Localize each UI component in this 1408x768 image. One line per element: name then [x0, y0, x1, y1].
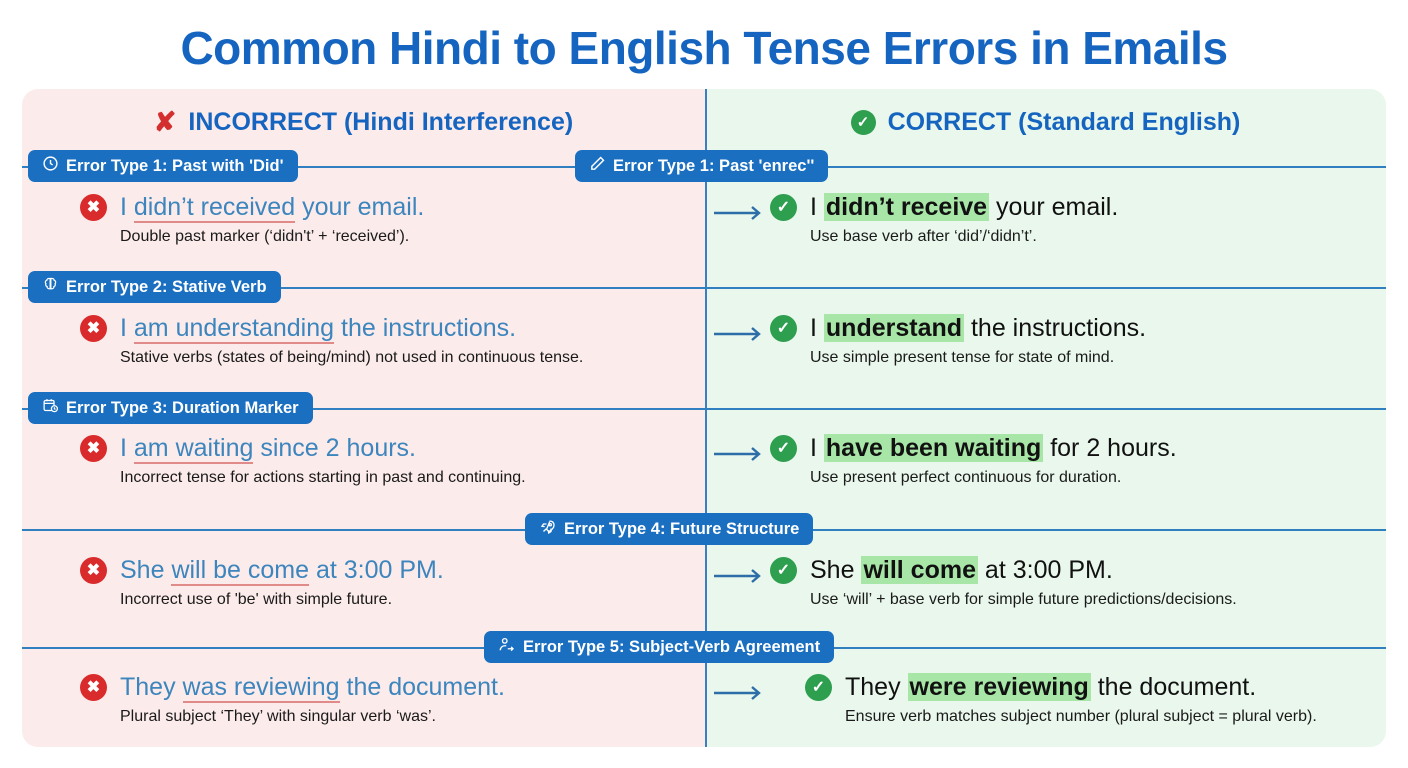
incorrect-column-label: INCORRECT (Hindi Interference) — [188, 108, 573, 137]
incorrect-note: Stative verbs (states of being/mind) not… — [80, 349, 705, 367]
badge-label: Error Type 5: Subject-Verb Agreement — [523, 638, 820, 657]
calendar-clock-icon — [42, 397, 59, 419]
success-icon: ✓ — [770, 435, 797, 462]
correct-sentence: I have been waiting for 2 hours. — [810, 434, 1177, 463]
badge-label: Error Type 4: Future Structure — [564, 520, 799, 539]
badge-error-type-4[interactable]: Error Type 4: Future Structure — [525, 513, 813, 545]
incorrect-note: Double past marker (‘didn't’ + ‘received… — [80, 228, 705, 246]
incorrect-cell: ✖ I didn’t received your email. Double p… — [22, 193, 705, 246]
success-icon: ✓ — [805, 674, 832, 701]
success-icon: ✓ — [770, 194, 797, 221]
comparison-row: ✖ She will be come at 3:00 PM. Incorrect… — [22, 556, 1386, 626]
correct-cell: ✓ I understand the instructions. Use sim… — [705, 314, 1386, 367]
badge-error-type-1-left[interactable]: Error Type 1: Past with 'Did' — [28, 150, 298, 182]
error-icon: ✖ — [80, 674, 107, 701]
incorrect-column-header: ✘ INCORRECT (Hindi Interference) — [22, 101, 705, 143]
correct-note: Use present perfect continuous for durat… — [770, 469, 1386, 487]
correct-cell: ✓ They were reviewing the document. Ensu… — [705, 673, 1386, 726]
badge-error-type-3[interactable]: Error Type 3: Duration Marker — [28, 392, 313, 424]
badge-error-type-5[interactable]: Error Type 5: Subject-Verb Agreement — [484, 631, 834, 663]
correct-sentence: I didn’t receive your email. — [810, 193, 1118, 222]
error-icon: ✖ — [80, 194, 107, 221]
error-icon: ✖ — [80, 435, 107, 462]
incorrect-cell: ✖ I am waiting since 2 hours. Incorrect … — [22, 434, 705, 487]
incorrect-sentence: She will be come at 3:00 PM. — [120, 556, 444, 585]
check-circle-icon: ✓ — [851, 110, 876, 135]
brain-icon — [42, 276, 59, 298]
incorrect-sentence: They was reviewing the document. — [120, 673, 505, 702]
incorrect-cell: ✖ I am understanding the instructions. S… — [22, 314, 705, 367]
error-icon: ✖ — [80, 315, 107, 342]
correct-column-label: CORRECT (Standard English) — [888, 108, 1241, 137]
user-arrow-icon — [498, 636, 516, 659]
clock-icon — [42, 155, 59, 177]
badge-label: Error Type 3: Duration Marker — [66, 399, 299, 418]
success-icon: ✓ — [770, 315, 797, 342]
error-icon: ✖ — [80, 557, 107, 584]
incorrect-sentence: I am understanding the instructions. — [120, 314, 516, 343]
comparison-row: ✖ I didn’t received your email. Double p… — [22, 193, 1386, 263]
page-title: Common Hindi to English Tense Errors in … — [0, 18, 1408, 78]
comparison-row: ✖ I am understanding the instructions. S… — [22, 314, 1386, 384]
incorrect-cell: ✖ She will be come at 3:00 PM. Incorrect… — [22, 556, 705, 609]
correct-cell: ✓ I have been waiting for 2 hours. Use p… — [705, 434, 1386, 487]
incorrect-note: Plural subject ‘They’ with singular verb… — [80, 708, 705, 726]
badge-error-type-2[interactable]: Error Type 2: Stative Verb — [28, 271, 281, 303]
correct-note: Ensure verb matches subject number (plur… — [805, 708, 1386, 726]
correct-sentence: She will come at 3:00 PM. — [810, 556, 1113, 585]
badge-label: Error Type 1: Past 'enrec'' — [613, 157, 814, 176]
comparison-row: ✖ They was reviewing the document. Plura… — [22, 673, 1386, 743]
correct-cell: ✓ She will come at 3:00 PM. Use ‘will’ +… — [705, 556, 1386, 609]
correct-cell: ✓ I didn’t receive your email. Use base … — [705, 193, 1386, 246]
correct-note: Use simple present tense for state of mi… — [770, 349, 1386, 367]
rocket-icon — [539, 518, 557, 541]
badge-label: Error Type 2: Stative Verb — [66, 278, 267, 297]
comparison-row: ✖ I am waiting since 2 hours. Incorrect … — [22, 434, 1386, 504]
pencil-icon — [589, 155, 606, 177]
incorrect-cell: ✖ They was reviewing the document. Plura… — [22, 673, 705, 726]
incorrect-sentence: I am waiting since 2 hours. — [120, 434, 416, 463]
correct-column-header: ✓ CORRECT (Standard English) — [705, 101, 1386, 143]
success-icon: ✓ — [770, 557, 797, 584]
incorrect-sentence: I didn’t received your email. — [120, 193, 424, 222]
incorrect-note: Incorrect tense for actions starting in … — [80, 469, 705, 487]
x-mark-icon: ✘ — [154, 109, 177, 136]
correct-note: Use base verb after ‘did’/‘didn’t’. — [770, 228, 1386, 246]
correct-note: Use ‘will’ + base verb for simple future… — [770, 591, 1386, 609]
correct-sentence: I understand the instructions. — [810, 314, 1146, 343]
correct-sentence: They were reviewing the document. — [845, 673, 1256, 702]
badge-error-type-1-right[interactable]: Error Type 1: Past 'enrec'' — [575, 150, 828, 182]
badge-label: Error Type 1: Past with 'Did' — [66, 157, 284, 176]
comparison-panel: ✘ INCORRECT (Hindi Interference) ✓ CORRE… — [22, 89, 1386, 747]
incorrect-note: Incorrect use of 'be' with simple future… — [80, 591, 705, 609]
